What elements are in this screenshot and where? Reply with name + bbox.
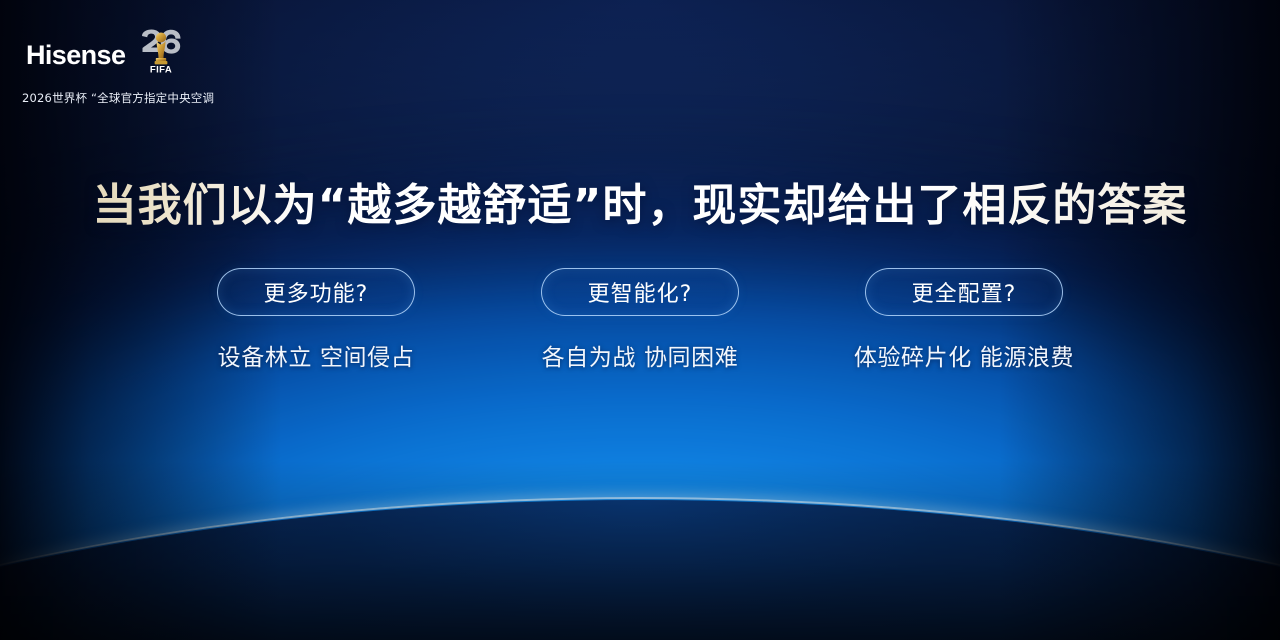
brand-caption: 2026世界杯 “全球官方指定中央空调 (22, 90, 202, 106)
question-caption-more-features: 设备林立 空间侵占 (218, 338, 415, 372)
brand-logo-row: Hisense (22, 26, 202, 84)
slide-canvas: Hisense (0, 0, 1280, 640)
question-pill-full-configuration[interactable]: 更全配置? (865, 268, 1063, 316)
question-card-row: 更多功能? 设备林立 空间侵占 更智能化? 各自为战 协同困难 更全配置? 体验… (0, 268, 1280, 372)
svg-text:FIFA: FIFA (150, 65, 172, 76)
brand-lockup: Hisense (22, 26, 202, 106)
question-card-1: 更多功能? 设备林立 空间侵占 (216, 268, 416, 372)
fifa-world-cup-2026-emblem-icon: FIFA (139, 29, 183, 81)
question-caption-full-configuration: 体验碎片化 能源浪费 (854, 338, 1074, 372)
question-card-3: 更全配置? 体验碎片化 能源浪费 (864, 268, 1064, 372)
page-title: 当我们以为“越多越舒适”时，现实却给出了相反的答案 (0, 179, 1280, 233)
slide-content: Hisense (0, 0, 1280, 640)
question-pill-more-features[interactable]: 更多功能? (217, 268, 415, 316)
question-caption-more-intelligent: 各自为战 协同困难 (542, 338, 739, 372)
question-pill-more-intelligent[interactable]: 更智能化? (541, 268, 739, 316)
question-card-2: 更智能化? 各自为战 协同困难 (540, 268, 740, 372)
hisense-wordmark: Hisense (26, 42, 125, 69)
